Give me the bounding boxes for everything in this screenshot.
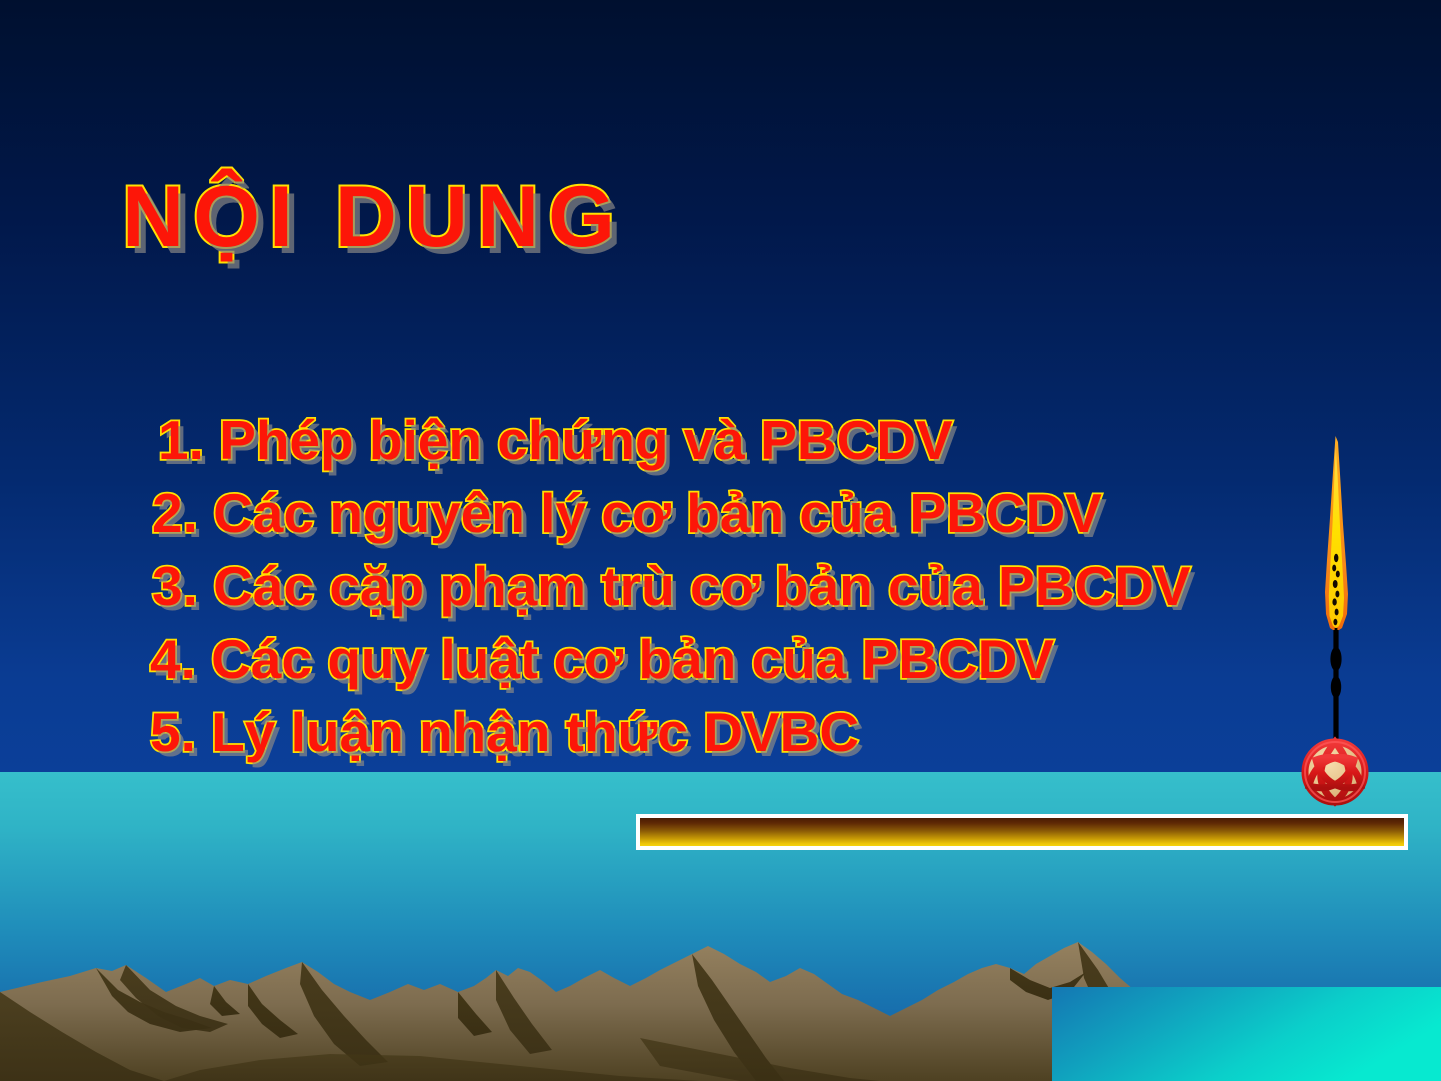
list-item: 3. Các cặp phạm trù cơ bản của PBCDV — [152, 550, 1420, 623]
list-item: 5. Lý luận nhận thức DVBC — [150, 696, 1420, 769]
list-item: 2. Các nguyên lý cơ bản của PBCDV — [152, 477, 1420, 550]
gold-divider-bar-fill — [640, 818, 1404, 846]
list-item: 4. Các quy luật cơ bản của PBCDV — [150, 623, 1420, 696]
page-title: NỘI DUNG — [122, 168, 624, 267]
gold-divider-bar — [636, 814, 1408, 850]
list-item: 1. Phép biện chứng và PBCDV — [158, 404, 1420, 477]
content-list: 1. Phép biện chứng và PBCDV 2. Các nguyê… — [150, 404, 1420, 769]
presentation-slide: NỘI DUNG 1. Phép biện chứng và PBCDV 2. … — [0, 0, 1441, 1081]
lake-foreground — [1052, 987, 1441, 1081]
